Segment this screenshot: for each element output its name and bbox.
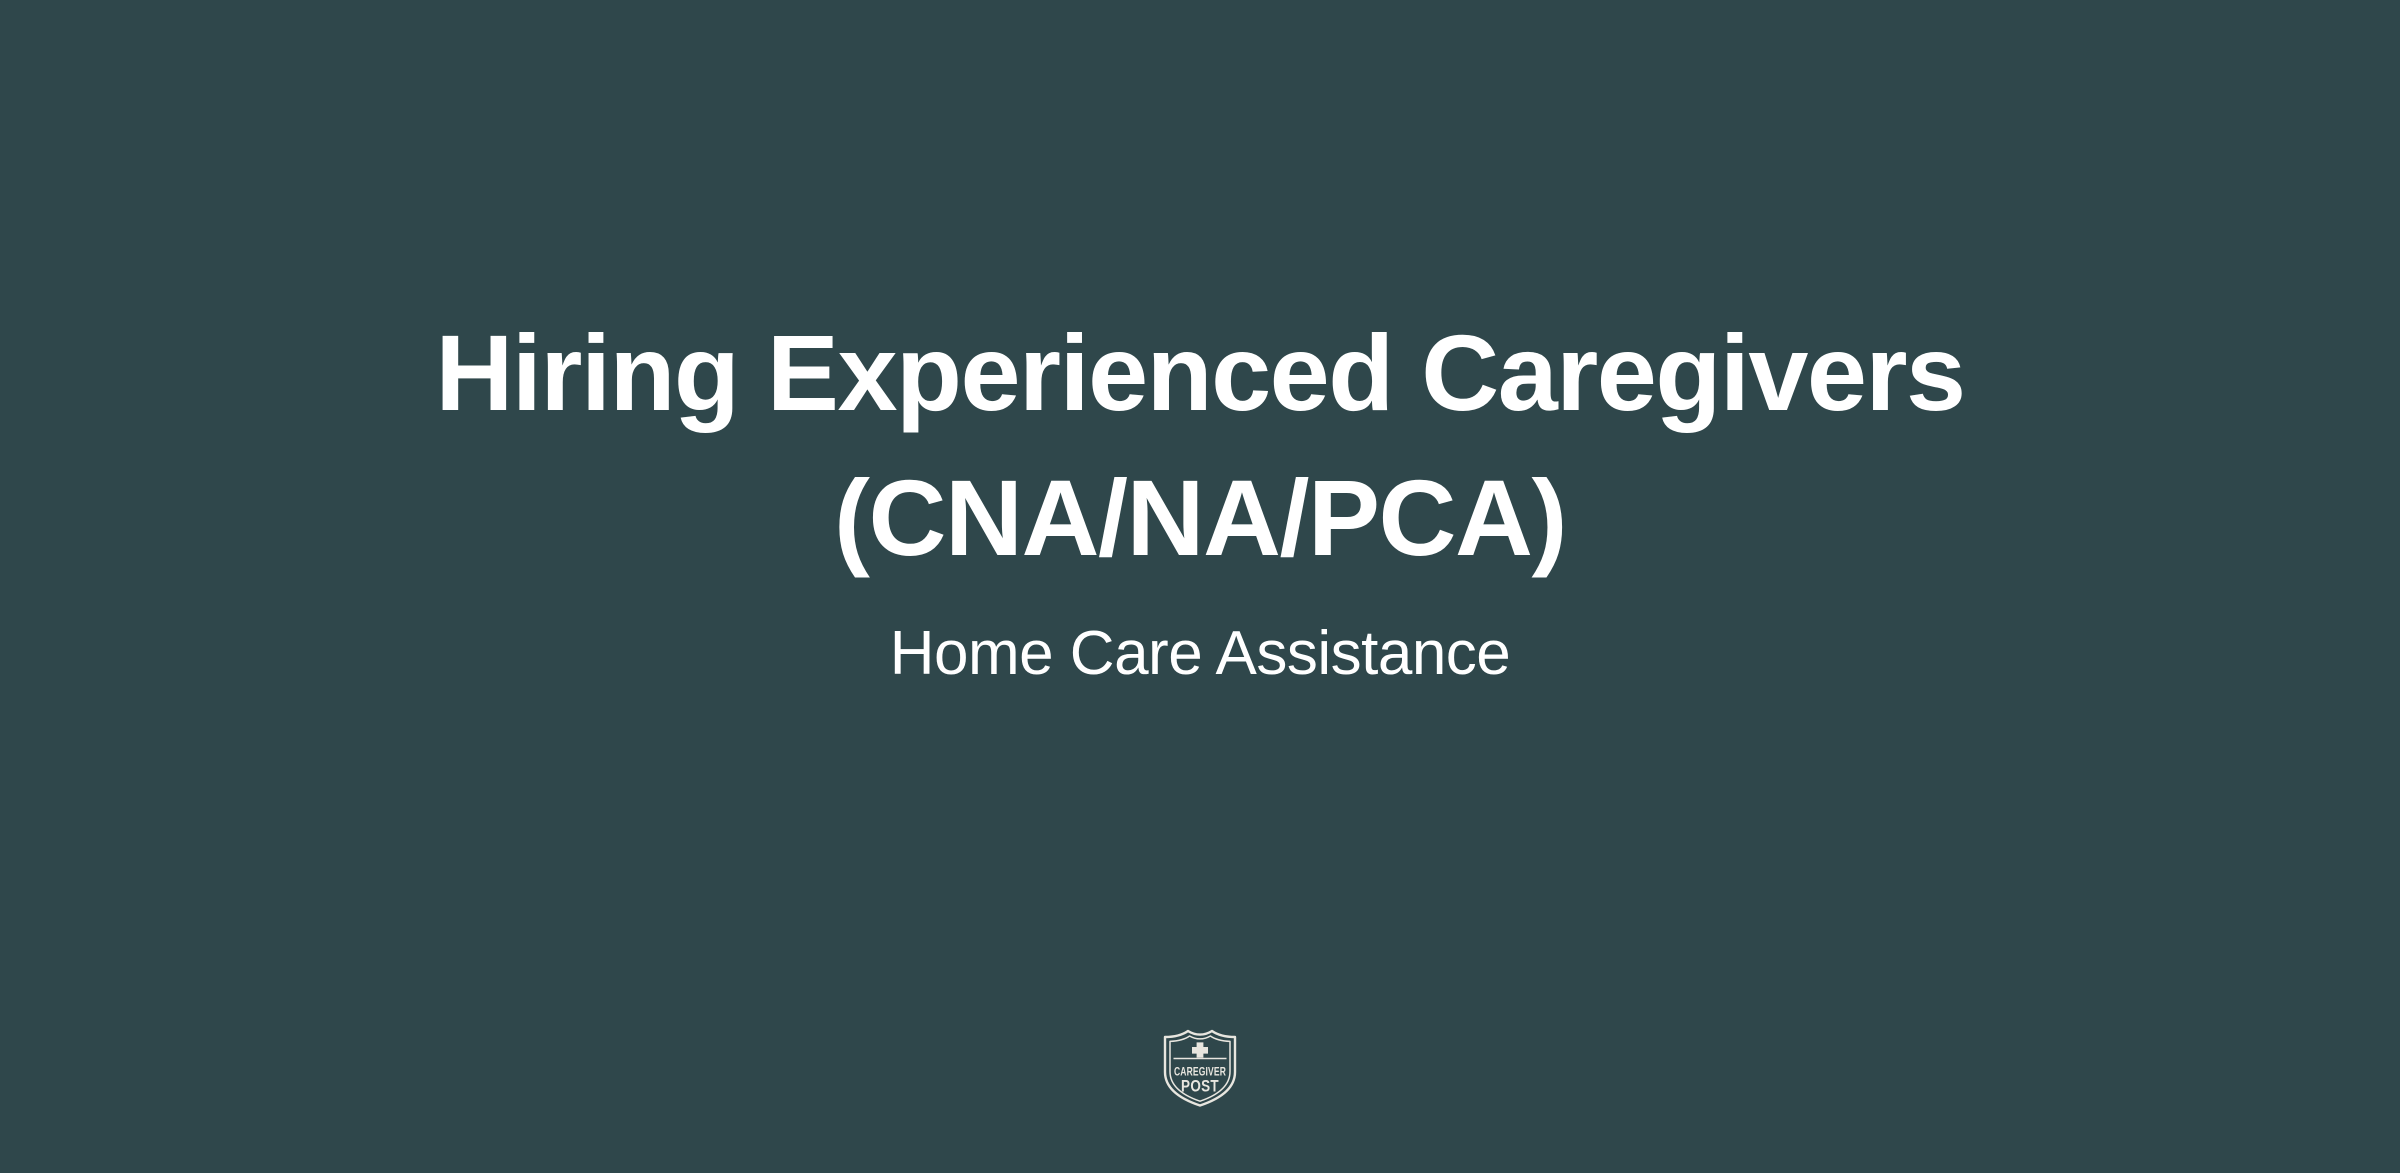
badge-text-post: POST: [1181, 1078, 1219, 1096]
job-post-card: Hiring Experienced Caregivers (CNA/NA/PC…: [0, 0, 2400, 1173]
hero-text-block: Hiring Experienced Caregivers (CNA/NA/PC…: [0, 300, 2400, 692]
page-subtitle: Home Care Assistance: [350, 590, 2050, 692]
brand-logo: CAREGIVER POST: [1161, 1028, 1239, 1108]
shield-badge-icon: CAREGIVER POST: [1161, 1028, 1239, 1108]
page-title: Hiring Experienced Caregivers (CNA/NA/PC…: [350, 300, 2050, 590]
medical-cross-icon: [1192, 1042, 1208, 1057]
